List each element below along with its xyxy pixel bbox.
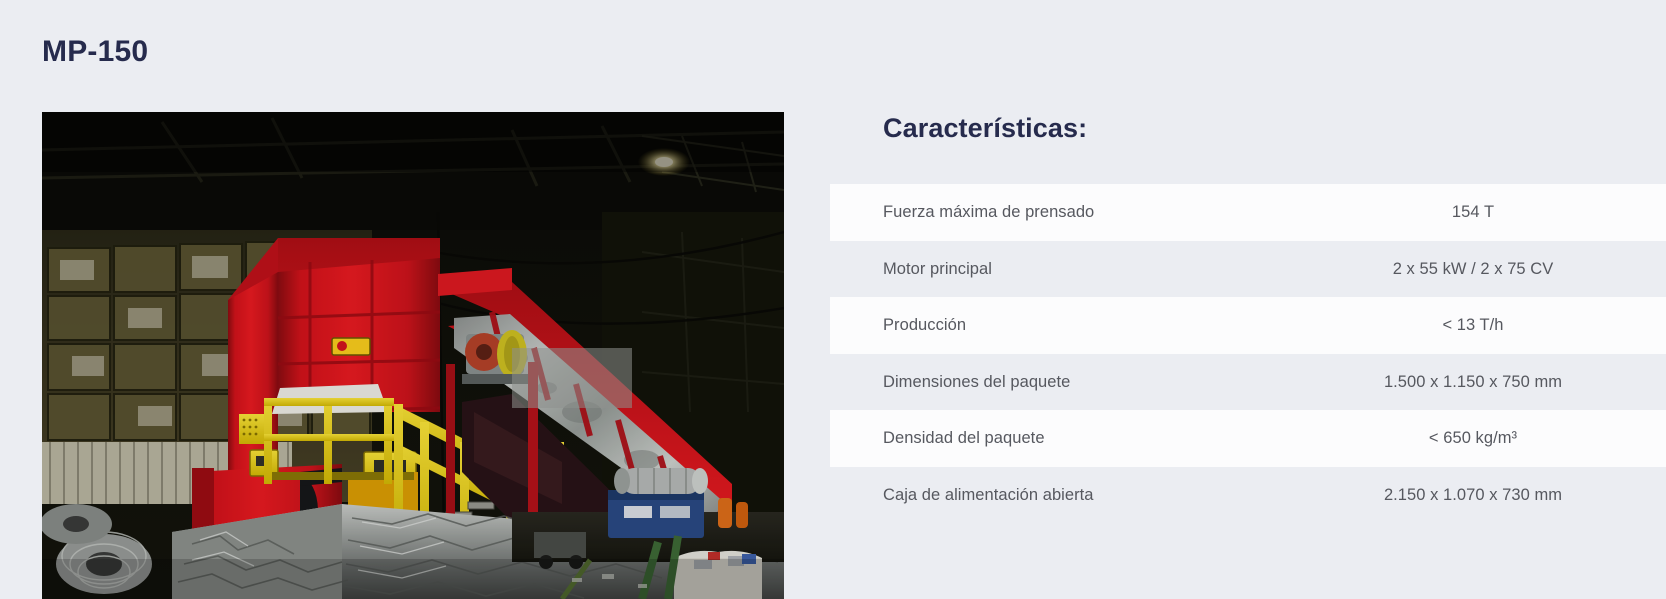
spec-value: 154 T [1273, 184, 1666, 241]
specifications-table: Fuerza máxima de prensado 154 T Motor pr… [830, 184, 1666, 523]
specifications-table-body: Fuerza máxima de prensado 154 T Motor pr… [830, 184, 1666, 523]
spec-value: 2.150 x 1.070 x 730 mm [1273, 467, 1666, 524]
table-row: Motor principal 2 x 55 kW / 2 x 75 CV [830, 241, 1666, 298]
product-detail-page: MP-150 [0, 0, 1666, 599]
spec-value: < 13 T/h [1273, 297, 1666, 354]
spec-value: 2 x 55 kW / 2 x 75 CV [1273, 241, 1666, 298]
product-photo-illustration [42, 112, 784, 599]
table-row: Caja de alimentación abierta 2.150 x 1.0… [830, 467, 1666, 524]
spec-label: Producción [830, 297, 1273, 354]
page-title: MP-150 [42, 34, 148, 70]
table-row: Producción < 13 T/h [830, 297, 1666, 354]
table-row: Dimensiones del paquete 1.500 x 1.150 x … [830, 354, 1666, 411]
specifications-section: Características: Fuerza máxima de prensa… [830, 112, 1624, 523]
table-row: Fuerza máxima de prensado 154 T [830, 184, 1666, 241]
table-row: Densidad del paquete < 650 kg/m³ [830, 410, 1666, 467]
specifications-heading: Características: [883, 112, 1624, 144]
spec-value: 1.500 x 1.150 x 750 mm [1273, 354, 1666, 411]
spec-value: < 650 kg/m³ [1273, 410, 1666, 467]
product-photo [42, 112, 784, 599]
spec-label: Fuerza máxima de prensado [830, 184, 1273, 241]
spec-label: Caja de alimentación abierta [830, 467, 1273, 524]
spec-label: Dimensiones del paquete [830, 354, 1273, 411]
spec-label: Motor principal [830, 241, 1273, 298]
spec-label: Densidad del paquete [830, 410, 1273, 467]
